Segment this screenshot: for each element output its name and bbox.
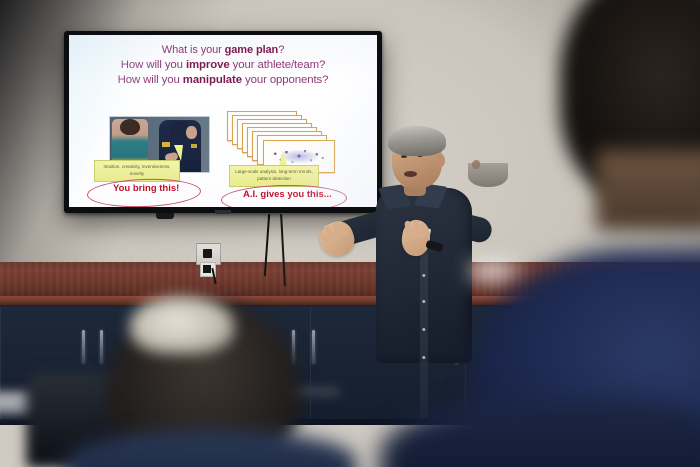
presenter-mouth — [404, 171, 417, 177]
heading-2-bold: improve — [186, 59, 230, 71]
presenter-beard — [468, 163, 508, 187]
av-wall-plate-lower-port — [203, 265, 211, 273]
coach-badge — [162, 142, 170, 147]
heading-2-post: your athlete/team? — [230, 59, 326, 71]
presenter-torso — [376, 188, 472, 363]
slide-heading-3: How will you manipulate your opponents? — [79, 73, 367, 88]
audience-hair-gray-patch — [130, 296, 234, 354]
heading-3-pre: How will you — [118, 74, 183, 86]
callout-ai-qualities: Large-scale analysis, long-term trends, … — [229, 165, 319, 187]
coach-head — [170, 121, 190, 141]
slide-heading-1: What is your game plan? — [79, 43, 367, 58]
tv-mount-bracket — [156, 213, 174, 219]
callout-tail — [279, 151, 287, 166]
callout-tail — [174, 145, 183, 161]
coach-badge — [191, 144, 197, 148]
finger — [341, 224, 347, 237]
cabinet-handle[interactable] — [82, 330, 85, 364]
heading-1-pre: What is your — [162, 44, 225, 56]
heading-1-bold: game plan — [225, 44, 279, 56]
label-ai-gives-you-this: A.I. gives you this... — [243, 189, 332, 200]
room-scene: What is your game plan? How will you imp… — [0, 0, 700, 467]
athlete-head — [120, 119, 140, 135]
heading-2-pre: How will you — [121, 59, 186, 71]
audience-neck-right — [596, 150, 700, 230]
presenter-hair — [388, 126, 446, 156]
slide-heading-2: How will you improve your athlete/team? — [79, 58, 367, 73]
heading-3-post: your opponents? — [242, 74, 328, 86]
cabinet-handle[interactable] — [100, 330, 103, 364]
presenter-ear — [436, 154, 445, 167]
label-you-bring-this: You bring this! — [113, 183, 179, 194]
heading-1-post: ? — [278, 44, 284, 56]
av-wall-plate-port — [203, 249, 212, 258]
coach-face — [186, 126, 197, 139]
heading-3-bold: manipulate — [183, 74, 242, 86]
tv-chin — [215, 210, 231, 214]
cabinet-handle[interactable] — [312, 330, 315, 364]
